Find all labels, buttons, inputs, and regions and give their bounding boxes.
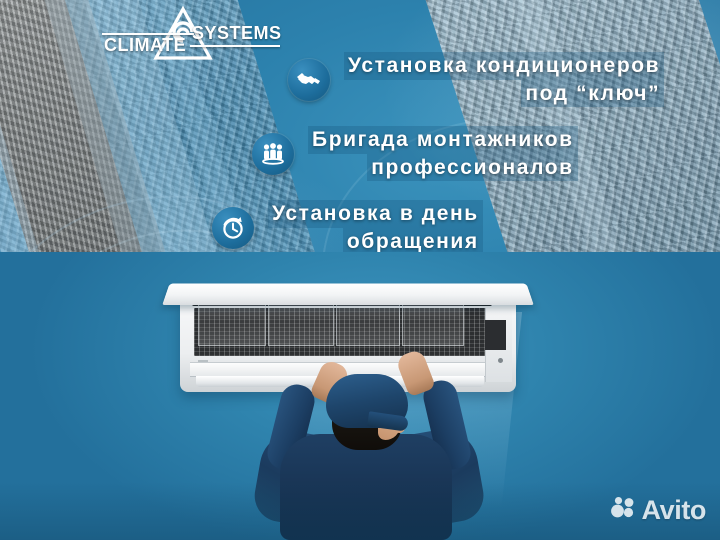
ac-filter-cell [198, 302, 266, 346]
team-people-icon [252, 133, 294, 175]
ac-side-dark-insert [485, 320, 506, 350]
feature-line: Установка в день [268, 200, 483, 228]
feature-line: Установка кондиционеров [344, 52, 664, 80]
company-logo: CLIMATE SYSTEMS [100, 4, 280, 66]
feature-item-3: Установка в день обращения [212, 200, 483, 255]
feature-text-1: Установка кондиционеров под “ключ” [344, 52, 664, 107]
logo-rule-bottom [190, 45, 280, 47]
feature-line: профессионалов [367, 154, 578, 182]
clock-arrow-icon [212, 207, 254, 249]
ac-side-panel [485, 308, 512, 382]
avito-watermark: Avito [610, 495, 707, 526]
ac-indicator-led [498, 358, 503, 363]
feature-text-2: Бригада монтажников профессионалов [308, 126, 578, 181]
ac-front-flap-open [162, 283, 534, 305]
feature-line: Бригада монтажников [308, 126, 578, 154]
avito-label: Avito [642, 495, 707, 526]
feature-item-2: Бригада монтажников профессионалов [252, 126, 578, 181]
avito-dots-icon [610, 496, 636, 525]
feature-item-1: Установка кондиционеров под “ключ” [288, 52, 664, 107]
handshake-icon [288, 59, 330, 101]
ac-filter-cell [402, 302, 464, 346]
feature-text-3: Установка в день обращения [268, 200, 483, 255]
ac-filter-cell [268, 302, 334, 346]
feature-line: под “ключ” [521, 80, 664, 108]
logo-text-systems: SYSTEMS [192, 23, 282, 44]
promo-banner: CLIMATE SYSTEMS Установка кондиционеров … [0, 0, 720, 540]
logo-text-climate: CLIMATE [104, 35, 186, 56]
ac-filter-cell [336, 302, 400, 346]
